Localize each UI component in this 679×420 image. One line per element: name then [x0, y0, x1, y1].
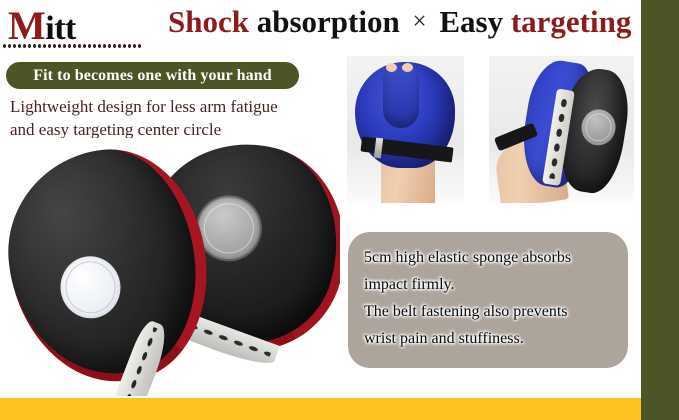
tagline-easy: Easy	[439, 4, 503, 39]
feature-line-4: wrist pain and stuffiness.	[364, 325, 612, 352]
lead-paragraph: Lightweight design for less arm fatigue …	[10, 95, 340, 141]
tagline-targeting: targeting	[511, 4, 632, 39]
product-banner: Mitt Shock absorption × Easy targeting F…	[0, 0, 679, 420]
main-product-photo	[6, 138, 340, 396]
fingertip	[386, 63, 397, 72]
fingertip	[402, 63, 413, 72]
feature-line-1: 5cm high elastic sponge absorbs	[364, 244, 612, 271]
gold-bottom-bar	[0, 398, 679, 420]
feature-text-card: 5cm high elastic sponge absorbs impact f…	[348, 232, 628, 368]
fit-banner-pill: Fit to becomes one with your hand	[6, 62, 299, 89]
feature-line-2: impact firmly.	[364, 271, 612, 298]
feature-line-3: The belt fastening also prevents	[364, 298, 612, 325]
mitt-front-unit	[6, 139, 219, 393]
brand-dotted-underline	[2, 43, 142, 49]
photo-blue-mitt-side-view	[489, 56, 634, 203]
brand-rest: itt	[45, 10, 76, 47]
tagline-shock: Shock	[168, 4, 249, 39]
header: Mitt Shock absorption × Easy targeting	[0, 0, 641, 52]
multiplication-x-icon: ×	[407, 8, 431, 35]
tagline-absorption: absorption	[257, 4, 400, 39]
finger-pocket	[383, 66, 419, 128]
photo-blue-mitt-palm-view	[347, 56, 464, 203]
lead-line-1: Lightweight design for less arm fatigue	[10, 95, 340, 118]
olive-side-column	[641, 0, 679, 420]
tagline: Shock absorption × Easy targeting	[168, 4, 631, 40]
brand-initial: M	[8, 3, 45, 48]
brand-title: Mitt	[8, 2, 76, 49]
